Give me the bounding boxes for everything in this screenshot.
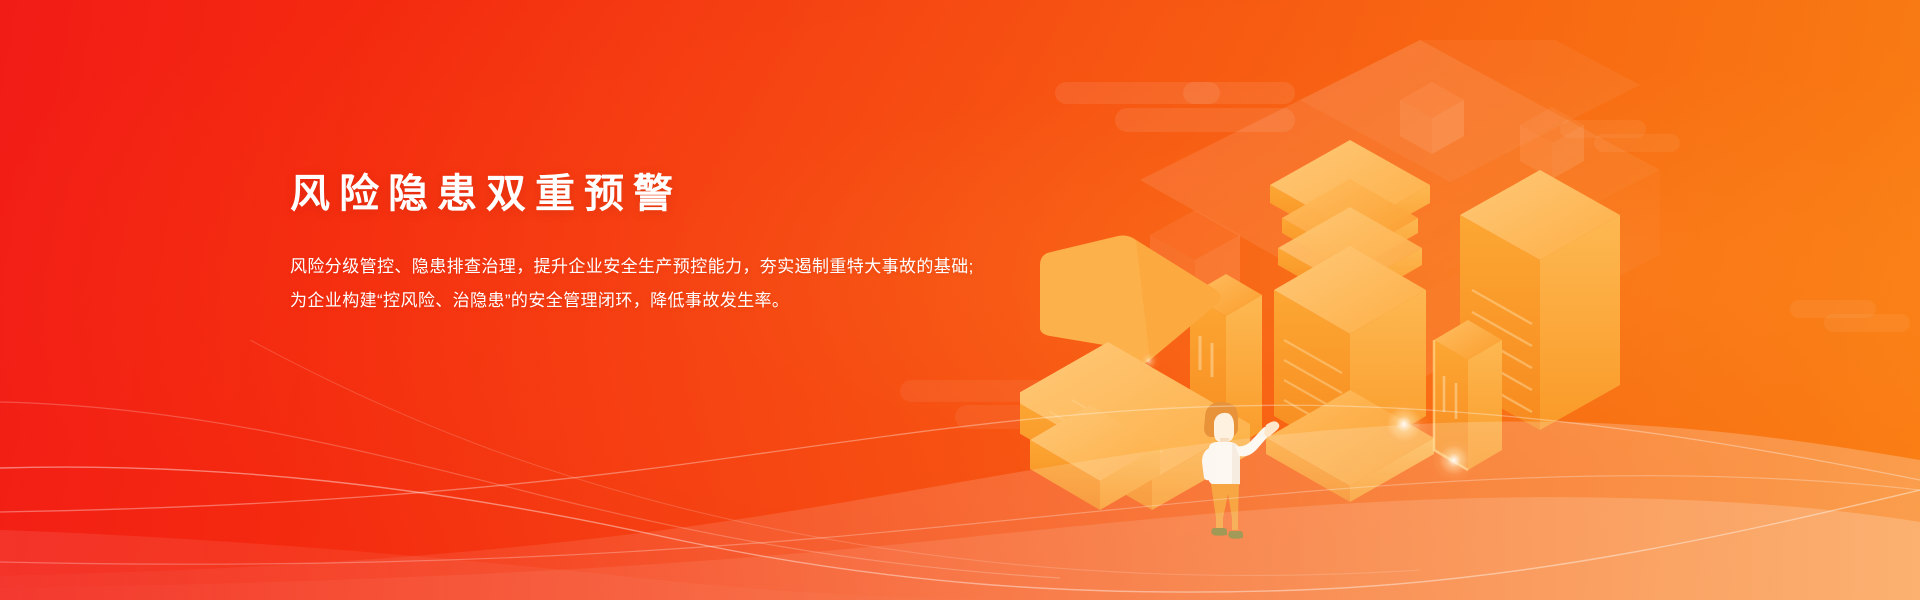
cloud-motif-lower-small (1790, 300, 1910, 330)
hero-description-line-2: 为企业构建“控风险、治隐患”的安全管理闭环，降低事故发生率。 (290, 284, 1010, 318)
page-title: 风险隐患双重预警 (290, 170, 1010, 218)
hero-banner: 风险隐患双重预警 风险分级管控、隐患排查治理，提升企业安全生产预控能力，夯实遏制… (0, 0, 1920, 600)
hero-description-line-1: 风险分级管控、隐患排查治理，提升企业安全生产预控能力，夯实遏制重特大事故的基础; (290, 250, 1010, 284)
hero-description: 风险分级管控、隐患排查治理，提升企业安全生产预控能力，夯实遏制重特大事故的基础;… (290, 250, 1010, 318)
bottom-wave-decoration (0, 340, 1920, 600)
hero-copy: 风险隐患双重预警 风险分级管控、隐患排查治理，提升企业安全生产预控能力，夯实遏制… (290, 170, 1010, 318)
